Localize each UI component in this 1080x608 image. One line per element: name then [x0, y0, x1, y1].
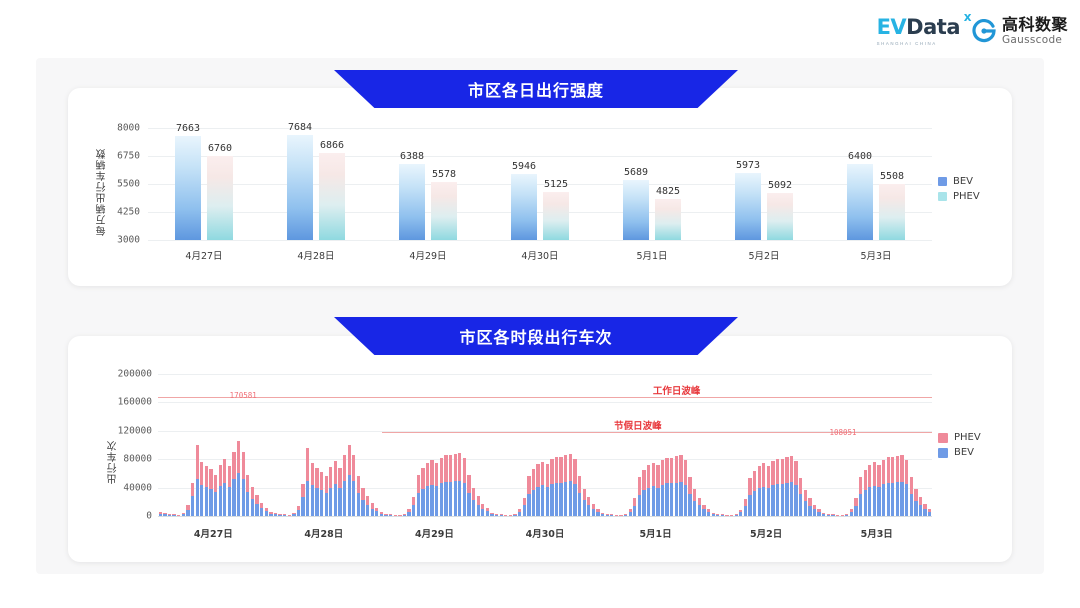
- chart2-bar-seg-bev-140: [804, 501, 807, 516]
- chart2-bar-seg-phev-37: [329, 467, 332, 488]
- chart2-stacked-bar-87: [559, 457, 562, 516]
- chart2-bar-seg-phev-132: [767, 466, 770, 488]
- chart2-bar-seg-phev-61: [440, 458, 443, 484]
- chart2-bar-seg-bev-112: [675, 483, 678, 516]
- chart2-bar-seg-bev-126: [739, 512, 742, 516]
- chart2-stacked-bar-155: [873, 462, 876, 516]
- chart2-bar-seg-bev-144: [822, 514, 825, 516]
- chart2-bar-seg-phev-96: [601, 513, 604, 514]
- chart2-bar-seg-phev-130: [758, 466, 761, 488]
- chart2-bar-seg-bev-31: [301, 497, 304, 516]
- chart2-stacked-bar-74: [500, 514, 503, 516]
- chart2-stacked-bar-80: [527, 476, 530, 516]
- chart2-stacked-bar-24: [269, 512, 272, 516]
- chart1-bar-phev-6: [879, 184, 905, 240]
- legend-label-phev: PHEV: [953, 191, 980, 202]
- evdata-logo: EVDatax SHANGHAI CHINA: [877, 17, 960, 46]
- chart2-stacked-bar-31: [301, 484, 304, 516]
- chart2-bar-seg-phev-68: [472, 488, 475, 500]
- chart2-stacked-bar-13: [219, 465, 222, 516]
- chart2-bar-seg-phev-46: [371, 503, 374, 508]
- chart2-bar-seg-phev-81: [532, 469, 535, 490]
- chart2-bar-seg-phev-72: [490, 513, 493, 514]
- chart2-bar-seg-bev-120: [712, 514, 715, 516]
- chart2-bar-seg-bev-153: [864, 490, 867, 516]
- chart2-bar-seg-bev-97: [606, 515, 609, 516]
- chart2-bar-seg-bev-139: [799, 494, 802, 516]
- chart1-legend: BEVPHEV: [938, 176, 980, 202]
- chart2-bar-seg-phev-7: [191, 483, 194, 496]
- chart2-bar-seg-bev-41: [348, 475, 351, 516]
- chart1-bar-label-bev-3: 5946: [512, 161, 536, 172]
- chart2-stacked-bar-56: [417, 475, 420, 516]
- chart2-stacked-bar-105: [642, 470, 645, 516]
- chart2-bar-seg-phev-115: [688, 477, 691, 494]
- chart2-bar-seg-phev-1: [163, 513, 166, 514]
- chart1-x-tick-3: 4月30日: [521, 248, 558, 262]
- chart2-stacked-bar-123: [725, 515, 728, 516]
- chart2-bar-seg-bev-128: [748, 495, 751, 516]
- legend-item-phev: PHEV: [938, 191, 980, 202]
- chart2-bar-seg-phev-17: [237, 441, 240, 472]
- evdata-logo-x-icon: x: [964, 11, 971, 23]
- chart2-bar-seg-bev-138: [794, 485, 797, 516]
- chart2-stacked-bar-97: [606, 514, 609, 516]
- chart2-x-tick-2: 4月29日: [415, 526, 454, 540]
- chart2-bar-seg-phev-137: [790, 456, 793, 482]
- chart2-bar-seg-bev-137: [790, 482, 793, 516]
- chart1-y-tick-6750: 6750: [117, 151, 140, 162]
- chart2-bar-seg-bev-19: [246, 492, 249, 516]
- chart2-bar-seg-phev-106: [647, 465, 650, 487]
- chart2-bar-seg-phev-136: [785, 457, 788, 483]
- chart2-bar-seg-bev-58: [426, 486, 429, 516]
- chart2-bar-seg-bev-70: [481, 509, 484, 516]
- chart1-bar-bev-6: [847, 164, 873, 240]
- chart2-stacked-bar-128: [748, 478, 751, 516]
- chart2-y-tick-40000: 40000: [123, 482, 152, 493]
- chart2-bar-seg-phev-122: [721, 514, 724, 515]
- chart2-bar-seg-bev-24: [269, 514, 272, 516]
- chart2-bar-seg-bev-157: [882, 484, 885, 516]
- chart2-bar-seg-phev-151: [854, 498, 857, 505]
- chart2-stacked-bar-20: [251, 487, 254, 516]
- chart2-bar-seg-phev-66: [463, 458, 466, 484]
- chart2-stacked-bar-40: [343, 455, 346, 516]
- chart2-stacked-bar-119: [707, 509, 710, 516]
- chart2-bar-seg-phev-9: [200, 462, 203, 485]
- chart2-stacked-bar-35: [320, 472, 323, 516]
- chart2-bar-seg-bev-64: [454, 481, 457, 516]
- chart2-stacked-bar-113: [679, 455, 682, 516]
- chart2-stacked-bar-58: [426, 463, 429, 516]
- chart2-stacked-bar-94: [592, 504, 595, 516]
- chart2-stacked-bar-126: [739, 510, 742, 516]
- chart2-stacked-bar-38: [334, 461, 337, 516]
- chart2-bar-seg-bev-79: [523, 505, 526, 516]
- chart2-stacked-bar-28: [288, 515, 291, 516]
- chart2-y-axis: 04000080000120000160000200000: [96, 374, 152, 516]
- chart2-bar-seg-bev-61: [440, 483, 443, 516]
- chart2-bar-seg-phev-78: [518, 509, 521, 512]
- chart2-stacked-bar-152: [859, 477, 862, 516]
- chart2-bar-seg-bev-27: [283, 515, 286, 516]
- chart2-bar-seg-phev-99: [615, 515, 618, 516]
- chart2-bar-seg-bev-93: [587, 505, 590, 516]
- chart2-bar-seg-phev-41: [348, 445, 351, 475]
- chart2-bar-seg-bev-95: [596, 512, 599, 516]
- chart2-stacked-bar-162: [905, 460, 908, 516]
- chart2-stacked-bar-25: [274, 513, 277, 516]
- chart2-bar-seg-bev-8: [196, 479, 199, 516]
- chart2-bar-seg-bev-160: [896, 482, 899, 516]
- chart2-stacked-bar-75: [504, 515, 507, 516]
- chart2-stacked-bar-45: [366, 496, 369, 516]
- chart2-bar-seg-phev-56: [417, 475, 420, 493]
- chart2-stacked-bar-92: [583, 489, 586, 516]
- chart1-bar-label-phev-4: 4825: [656, 186, 680, 197]
- chart2-stacked-bar-99: [615, 515, 618, 516]
- chart2-stacked-bar-103: [633, 498, 636, 516]
- chart2-x-tick-4: 5月1日: [639, 526, 671, 540]
- chart2-bar-seg-phev-63: [449, 455, 452, 482]
- chart2-bar-seg-phev-16: [232, 452, 235, 479]
- chart2-bar-seg-bev-66: [463, 483, 466, 516]
- chart2-bar-seg-phev-15: [228, 466, 231, 487]
- chart2-stacked-bar-27: [283, 514, 286, 516]
- chart2-stacked-bar-23: [265, 508, 268, 516]
- chart2-stacked-bar-129: [753, 471, 756, 516]
- chart2-stacked-bar-83: [541, 462, 544, 516]
- chart1-plot-area: 766367604月27日768468664月28日638855784月29日5…: [148, 128, 932, 240]
- chart2-stacked-bar-42: [352, 455, 355, 516]
- chart2-stacked-bar-131: [762, 463, 765, 516]
- chart2-bar-seg-phev-163: [910, 477, 913, 494]
- chart2-bar-seg-phev-119: [707, 509, 710, 512]
- chart2-stacked-bar-85: [550, 459, 553, 516]
- chart2-bar-seg-phev-51: [394, 515, 397, 516]
- chart2-bar-seg-bev-131: [762, 487, 765, 516]
- chart2-stacked-bar-65: [458, 453, 461, 516]
- chart2-stacked-bar-125: [735, 514, 738, 516]
- chart2-bar-seg-phev-75: [504, 515, 507, 516]
- chart2-bar-seg-phev-32: [306, 448, 309, 481]
- chart2-stacked-bar-167: [928, 509, 931, 516]
- chart2-bar-seg-phev-114: [684, 460, 687, 484]
- chart2-bar-seg-bev-26: [278, 515, 281, 516]
- chart2-bar-seg-phev-111: [670, 458, 673, 484]
- chart2-zero-axis: [158, 516, 932, 517]
- chart2-bar-seg-bev-148: [841, 515, 844, 516]
- chart2-bar-seg-bev-60: [435, 486, 438, 516]
- chart2-bar-seg-bev-38: [334, 484, 337, 516]
- chart2-stacked-bar-165: [919, 497, 922, 516]
- chart2-stacked-bar-8: [196, 445, 199, 516]
- legend-label-bev: BEV: [954, 447, 974, 458]
- chart2-stacked-bar-62: [444, 455, 447, 516]
- chart1-bar-bev-2: [399, 164, 425, 240]
- chart2-stacked-bar-77: [513, 514, 516, 516]
- chart2-bar-seg-phev-93: [587, 497, 590, 505]
- chart2-stacked-bar-110: [665, 458, 668, 516]
- chart2-bar-seg-phev-134: [776, 459, 779, 484]
- chart2-bar-seg-phev-64: [454, 454, 457, 481]
- chart2-bar-seg-bev-155: [873, 486, 876, 516]
- chart2-bar-seg-phev-48: [380, 512, 383, 513]
- chart2-bar-seg-bev-29: [292, 514, 295, 516]
- chart2-bar-seg-bev-96: [601, 514, 604, 516]
- chart1-bar-phev-3: [543, 192, 569, 240]
- chart2-stacked-bar-16: [232, 452, 235, 516]
- chart2-bar-seg-phev-45: [366, 496, 369, 504]
- chart2-bar-seg-phev-105: [642, 470, 645, 490]
- chart2-stacked-bar-86: [555, 457, 558, 516]
- chart2-bar-seg-bev-42: [352, 481, 355, 517]
- chart2-bar-seg-bev-62: [444, 482, 447, 516]
- chart2-bar-seg-bev-151: [854, 506, 857, 517]
- chart2-stacked-bar-134: [776, 459, 779, 517]
- chart2-stacked-bar-57: [421, 468, 424, 516]
- chart2-bar-seg-bev-51: [394, 515, 397, 516]
- chart2-stacked-bar-111: [670, 458, 673, 516]
- chart2-bar-seg-phev-149: [845, 514, 848, 515]
- chart2-stacked-bar-82: [536, 464, 539, 516]
- chart2-bar-seg-bev-141: [808, 506, 811, 517]
- chart2-stacked-bar-37: [329, 467, 332, 516]
- chart2-stacked-bar-98: [610, 514, 613, 516]
- chart2-stacked-bar-21: [255, 495, 258, 516]
- chart2-bar-seg-bev-116: [693, 501, 696, 516]
- chart2-bar-seg-bev-130: [758, 488, 761, 516]
- chart2-bar-seg-phev-55: [412, 497, 415, 505]
- chart2-bar-seg-bev-22: [260, 508, 263, 516]
- chart2-bar-seg-bev-110: [665, 483, 668, 516]
- chart2-bar-seg-phev-47: [375, 508, 378, 511]
- chart2-stacked-bar-151: [854, 498, 857, 516]
- legend-swatch-phev: [938, 192, 947, 201]
- chart2-bar-seg-bev-12: [214, 492, 217, 516]
- chart2-stacked-bar-50: [389, 514, 392, 516]
- legend-swatch-bev: [938, 177, 947, 186]
- slide-root: EVDatax SHANGHAI CHINA 高科数聚 Gausscode 市区…: [0, 0, 1080, 608]
- gausscode-logo: 高科数聚 Gausscode: [972, 17, 1068, 46]
- chart2-bar-seg-phev-14: [223, 459, 226, 483]
- evdata-logo-wordmark: EVDatax: [877, 17, 960, 38]
- chart2-legend: PHEVBEV: [938, 432, 981, 458]
- chart2-bar-seg-bev-35: [320, 490, 323, 516]
- chart2-stacked-bar-53: [403, 514, 406, 516]
- chart2-bar-seg-bev-20: [251, 499, 254, 516]
- chart2-stacked-bar-2: [168, 514, 171, 516]
- chart1-bar-phev-2: [431, 182, 457, 240]
- legend-item-bev: BEV: [938, 176, 980, 187]
- legend-item-bev: BEV: [938, 447, 981, 458]
- chart2-bar-seg-phev-125: [735, 514, 738, 515]
- chart2-bar-seg-bev-89: [569, 481, 572, 516]
- chart1-bar-label-bev-0: 7663: [176, 123, 200, 134]
- chart2-stacked-bar-143: [817, 509, 820, 516]
- chart2-bar-seg-phev-101: [624, 514, 627, 515]
- chart2-bar-seg-phev-59: [430, 460, 433, 484]
- chart2-bar-seg-bev-149: [845, 515, 848, 516]
- chart2-stacked-bar-51: [394, 515, 397, 516]
- chart2-bar-seg-bev-56: [417, 493, 420, 516]
- chart2-bar-seg-phev-110: [665, 458, 668, 484]
- chart1-bar-label-bev-1: 7684: [288, 122, 312, 133]
- chart2-stacked-bar-116: [693, 489, 696, 516]
- chart2-bar-seg-phev-165: [919, 497, 922, 505]
- chart2-bar-seg-phev-8: [196, 445, 199, 479]
- chart2-bar-seg-phev-158: [887, 457, 890, 483]
- chart2-bar-seg-phev-83: [541, 462, 544, 486]
- chart2-plot-area: 4月27日4月28日4月29日4月30日5月1日5月2日5月3日工作日波峰节假日…: [158, 374, 932, 516]
- chart2-stacked-bar-95: [596, 509, 599, 516]
- chart2-bar-seg-bev-159: [891, 483, 894, 516]
- chart2-bar-seg-bev-23: [265, 511, 268, 516]
- chart2-stacked-bar-60: [435, 463, 438, 516]
- chart2-bar-seg-bev-0: [159, 514, 162, 516]
- chart2-bar-seg-phev-102: [629, 509, 632, 512]
- chart2-bar-seg-bev-34: [315, 488, 318, 516]
- chart2-x-tick-6: 5月3日: [861, 526, 893, 540]
- chart2-bar-seg-phev-140: [804, 490, 807, 501]
- chart1-bar-label-phev-5: 5092: [768, 180, 792, 191]
- chart2-bar-seg-phev-84: [546, 464, 549, 487]
- chart2-y-tick-160000: 160000: [118, 397, 152, 408]
- chart2-stacked-bar-160: [896, 456, 899, 516]
- chart2-bar-seg-bev-74: [500, 515, 503, 516]
- chart1-bar-phev-0: [207, 156, 233, 240]
- chart2-bar-seg-bev-100: [619, 515, 622, 516]
- chart2-bar-seg-bev-3: [172, 515, 175, 516]
- chart2-bar-seg-bev-1: [163, 514, 166, 516]
- chart2-bar-seg-phev-49: [384, 514, 387, 515]
- chart2-bar-seg-bev-39: [338, 488, 341, 516]
- gausscode-mark-icon: [972, 19, 996, 43]
- chart2-bar-seg-bev-115: [688, 494, 691, 516]
- chart2-stacked-bar-78: [518, 509, 521, 516]
- chart2-gridline: [158, 402, 932, 403]
- chart2-stacked-bar-107: [652, 463, 655, 516]
- chart2-bar-seg-bev-81: [532, 490, 535, 516]
- chart2-bar-seg-phev-26: [278, 514, 281, 515]
- chart2-stacked-bar-6: [186, 505, 189, 516]
- chart2-bar-seg-phev-20: [251, 487, 254, 499]
- chart2-bar-seg-phev-34: [315, 468, 318, 488]
- chart2-stacked-bar-157: [882, 460, 885, 516]
- chart2-bar-seg-phev-118: [702, 505, 705, 510]
- chart2-bar-seg-phev-19: [246, 475, 249, 492]
- chart1-bar-label-bev-4: 5689: [624, 167, 648, 178]
- chart2-stacked-bar-30: [297, 506, 300, 516]
- gausscode-en-name: Gausscode: [1002, 35, 1068, 46]
- chart2-bar-seg-phev-43: [357, 476, 360, 492]
- chart2-stacked-bar-109: [661, 460, 664, 516]
- chart2-bar-seg-bev-113: [679, 482, 682, 516]
- chart2-bar-seg-phev-129: [753, 471, 756, 491]
- chart2-bar-seg-phev-88: [564, 455, 567, 482]
- chart2-bar-seg-phev-4: [177, 515, 180, 516]
- chart2-stacked-bar-130: [758, 466, 761, 516]
- chart2-stacked-bar-127: [744, 499, 747, 516]
- chart2-stacked-bar-156: [877, 465, 880, 516]
- chart2-bar-seg-phev-5: [182, 513, 185, 514]
- chart2-bar-seg-phev-6: [186, 505, 189, 509]
- chart2-bar-seg-phev-127: [744, 499, 747, 506]
- chart2-stacked-bar-150: [850, 509, 853, 516]
- chart1-gridline: [148, 212, 932, 213]
- chart2-bar-seg-bev-72: [490, 514, 493, 516]
- chart2-stacked-bar-15: [228, 466, 231, 516]
- chart2-bar-seg-bev-28: [288, 515, 291, 516]
- chart2-stacked-bar-76: [509, 515, 512, 516]
- chart2-bar-seg-bev-18: [242, 479, 245, 516]
- chart2-stacked-bar-138: [794, 461, 797, 516]
- chart2-bar-seg-bev-163: [910, 494, 913, 516]
- chart2-bar-seg-bev-92: [583, 500, 586, 516]
- chart2-stacked-bar-39: [338, 468, 341, 516]
- chart2-bar-seg-phev-53: [403, 514, 406, 515]
- chart2-bar-seg-bev-53: [403, 515, 406, 516]
- chart2-bar-seg-phev-86: [555, 457, 558, 483]
- chart2-bar-seg-bev-32: [306, 481, 309, 517]
- chart2-bar-seg-phev-121: [716, 514, 719, 515]
- chart2-bar-seg-bev-11: [209, 489, 212, 516]
- chart2-bar-seg-bev-85: [550, 484, 553, 516]
- chart2-bar-seg-bev-94: [592, 509, 595, 516]
- chart2-stacked-bar-140: [804, 490, 807, 516]
- chart2-gridline: [158, 374, 932, 375]
- chart2-bar-seg-phev-74: [500, 514, 503, 515]
- chart2-bar-seg-phev-54: [407, 509, 410, 512]
- chart2-bar-seg-phev-95: [596, 509, 599, 512]
- chart2-bar-seg-phev-25: [274, 513, 277, 514]
- chart2-bar-seg-phev-24: [269, 512, 272, 513]
- chart1-bar-label-phev-6: 5508: [880, 171, 904, 182]
- chart2-stacked-bar-102: [629, 509, 632, 516]
- chart2-gridline: [158, 459, 932, 460]
- chart2-bar-seg-phev-128: [748, 478, 751, 495]
- chart2-bar-seg-phev-62: [444, 455, 447, 482]
- chart2-bar-seg-phev-157: [882, 460, 885, 485]
- chart2-bar-seg-phev-135: [781, 459, 784, 484]
- chart2-stacked-bar-108: [656, 465, 659, 516]
- chart2-bar-seg-phev-147: [836, 515, 839, 516]
- chart2-bar-seg-bev-16: [232, 479, 235, 516]
- chart2-y-tick-80000: 80000: [123, 454, 152, 465]
- chart2-stacked-bar-10: [205, 466, 208, 516]
- chart1-bar-label-phev-1: 6866: [320, 140, 344, 151]
- chart2-bar-seg-phev-10: [205, 466, 208, 487]
- chart2-bar-seg-phev-31: [301, 484, 304, 497]
- chart2-bar-seg-phev-58: [426, 463, 429, 486]
- chart2-stacked-bar-135: [781, 459, 784, 517]
- chart2-bar-seg-phev-40: [343, 455, 346, 481]
- chart2-bar-seg-phev-120: [712, 513, 715, 514]
- chart2-stacked-bar-93: [587, 497, 590, 516]
- chart2-stacked-bar-145: [827, 514, 830, 516]
- chart2-bar-seg-bev-40: [343, 481, 346, 517]
- chart2-stacked-bar-54: [407, 509, 410, 516]
- chart2-stacked-bar-7: [191, 483, 194, 516]
- chart2-bar-seg-bev-103: [633, 506, 636, 516]
- chart2-bar-seg-bev-43: [357, 493, 360, 516]
- chart2-bar-seg-bev-150: [850, 512, 853, 516]
- chart2-stacked-bar-148: [841, 515, 844, 516]
- chart1-bar-label-bev-6: 6400: [848, 151, 872, 162]
- chart2-stacked-bar-69: [477, 496, 480, 516]
- chart2-bar-seg-phev-116: [693, 489, 696, 500]
